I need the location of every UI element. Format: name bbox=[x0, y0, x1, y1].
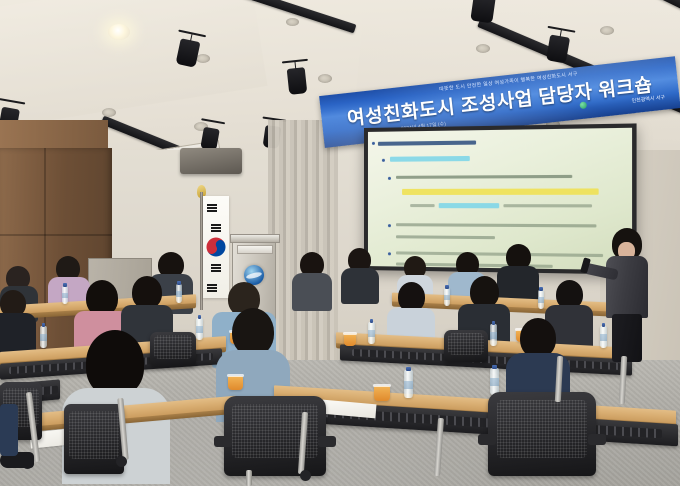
ceiling-plane-left bbox=[0, 0, 268, 133]
seminar-room-photo: 따뜻한 도시 안전한 일상 여성가족이 행복한 여성친화도시 서구 여성친화도시… bbox=[0, 0, 680, 486]
chair-armrest bbox=[318, 436, 336, 447]
trigram-icon bbox=[207, 204, 217, 212]
recessed-downlight bbox=[318, 74, 332, 83]
recessed-downlight bbox=[108, 24, 130, 40]
water-bottle bbox=[538, 290, 544, 309]
water-bottle bbox=[490, 368, 499, 395]
chair-armrest bbox=[214, 436, 232, 447]
recessed-downlight bbox=[102, 108, 116, 117]
attendee-leg bbox=[0, 404, 18, 456]
trigram-icon bbox=[211, 264, 221, 272]
chair[interactable] bbox=[64, 404, 124, 474]
stage-spotlight bbox=[287, 67, 308, 95]
taegeuk-icon bbox=[203, 234, 229, 260]
snack-cup bbox=[228, 376, 243, 390]
slide-cyan-highlight bbox=[390, 156, 470, 162]
recessed-downlight bbox=[196, 54, 210, 63]
recessed-downlight bbox=[286, 18, 299, 26]
podium-top bbox=[230, 234, 280, 243]
stage-spotlight bbox=[470, 0, 495, 23]
recessed-downlight bbox=[600, 26, 614, 35]
snack-cup bbox=[374, 386, 390, 401]
korean-national-flag bbox=[203, 196, 229, 298]
chair[interactable] bbox=[444, 330, 488, 362]
podium-nameplate bbox=[237, 245, 273, 254]
water-bottle bbox=[176, 284, 182, 303]
water-bottle bbox=[62, 286, 68, 304]
presenter-jacket bbox=[606, 256, 648, 318]
water-bottle bbox=[444, 288, 450, 306]
slide-yellow-highlight bbox=[402, 188, 599, 195]
trigram-icon bbox=[211, 224, 221, 232]
chair-leg bbox=[246, 470, 252, 486]
trigram-icon bbox=[207, 284, 217, 292]
table-caster bbox=[116, 456, 127, 467]
wall-speaker bbox=[180, 148, 242, 174]
recessed-downlight bbox=[476, 44, 490, 53]
projection-screen bbox=[368, 128, 632, 270]
table-caster bbox=[300, 470, 311, 481]
water-bottle bbox=[404, 370, 413, 398]
chair[interactable] bbox=[150, 332, 196, 366]
chair-foreground[interactable] bbox=[224, 396, 326, 476]
snack-cup bbox=[344, 334, 356, 346]
water-bottle bbox=[490, 324, 497, 346]
chair-armrest bbox=[588, 434, 606, 445]
water-bottle bbox=[40, 326, 47, 348]
chair-armrest bbox=[478, 434, 496, 445]
chair-foreground[interactable] bbox=[488, 392, 596, 476]
water-bottle bbox=[196, 318, 203, 340]
window-curtain bbox=[268, 120, 338, 382]
presenter-pants bbox=[612, 314, 642, 362]
presenter bbox=[596, 228, 656, 362]
water-bottle bbox=[368, 322, 375, 344]
slide-heading bbox=[378, 140, 476, 145]
